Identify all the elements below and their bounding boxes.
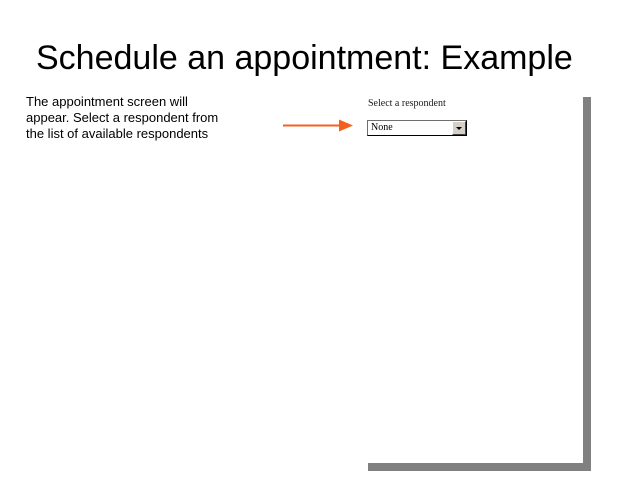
respondent-select-dropdown-button[interactable] — [452, 121, 466, 135]
body-text-line: the list of available respondents — [26, 126, 261, 142]
body-text-line: The appointment screen will — [26, 94, 261, 110]
slide-canvas: Schedule an appointment: Example The app… — [0, 0, 640, 480]
arrow-right-icon — [283, 117, 365, 134]
screenshot-shadow-right — [583, 97, 591, 471]
chevron-down-icon — [456, 127, 462, 130]
body-text-line: appear. Select a respondent from — [26, 110, 261, 126]
page-title: Schedule an appointment: Example — [36, 38, 616, 78]
respondent-select-value: None — [368, 122, 393, 134]
body-text-block: The appointment screen will appear. Sele… — [26, 94, 261, 142]
respondent-select-label: Select a respondent — [368, 98, 446, 110]
screenshot-shadow-bottom — [368, 463, 590, 471]
respondent-select[interactable]: None — [367, 120, 467, 136]
